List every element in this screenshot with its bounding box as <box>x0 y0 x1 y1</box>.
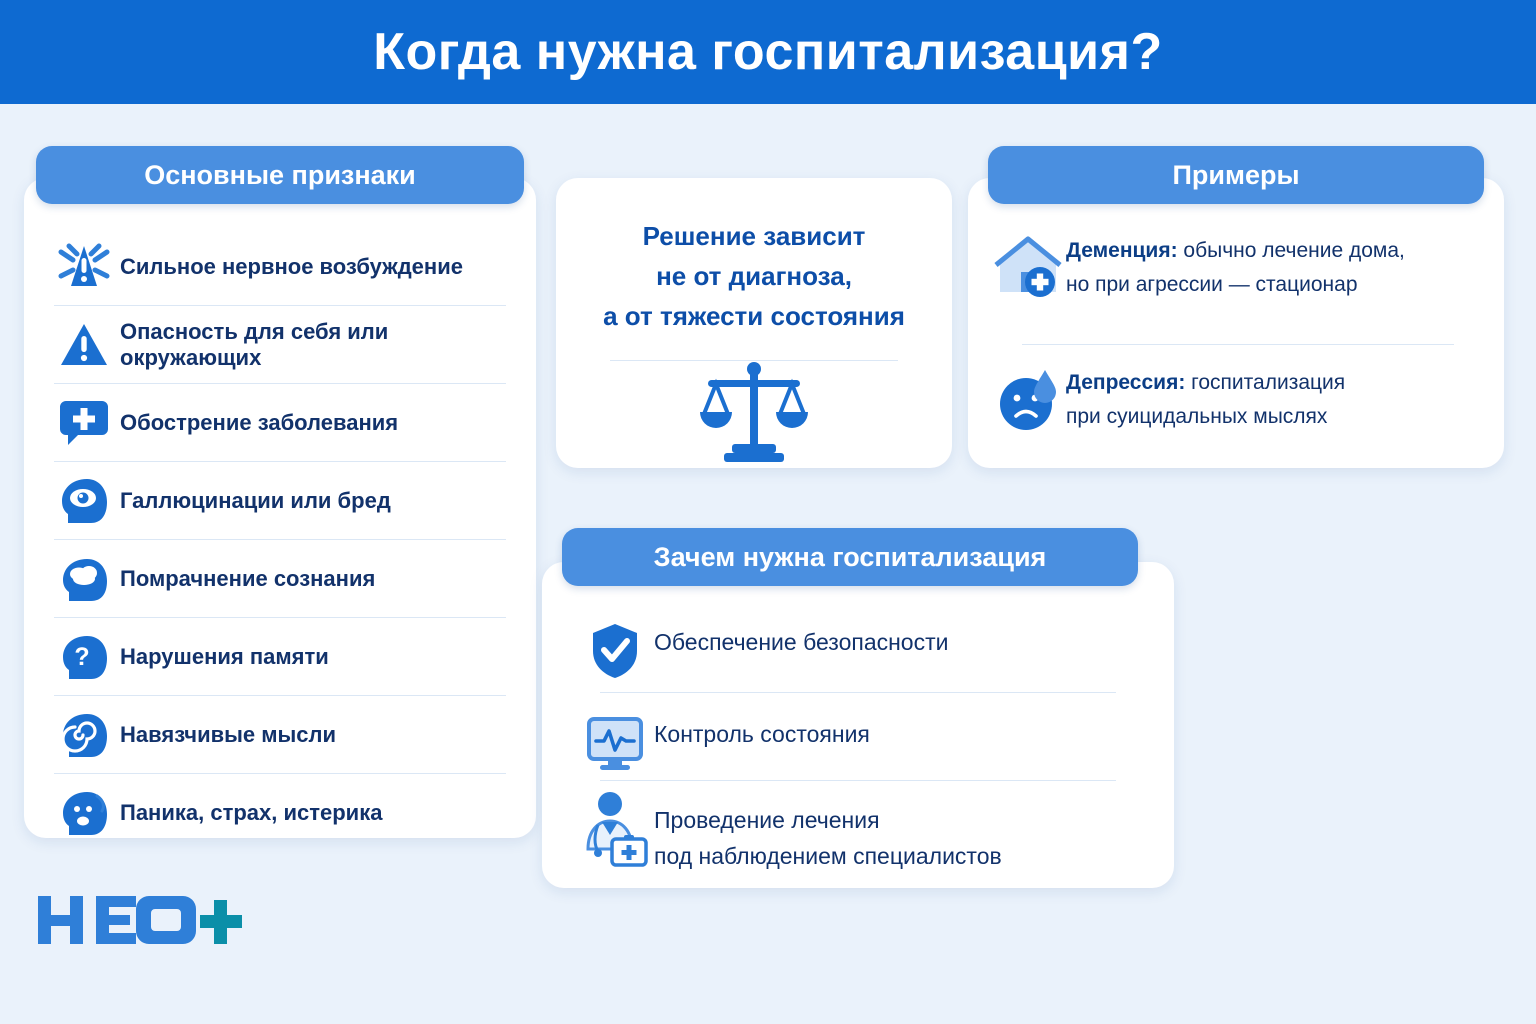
head-cloud-icon <box>54 550 114 608</box>
divider <box>1022 344 1454 345</box>
divider <box>600 692 1116 693</box>
list-item: Опасность для себя или окружающих <box>54 306 506 384</box>
sad-face-drop-icon <box>990 362 1066 438</box>
list-item: Галлюцинации или бред <box>54 462 506 540</box>
head-spiral-icon <box>54 706 114 764</box>
shield-check-icon <box>576 616 654 686</box>
list-item: Навязчивые мысли <box>54 696 506 774</box>
page-header: Когда нужна госпитализация? <box>0 0 1536 104</box>
decision-text: Решение зависит не от диагноза, а от тяж… <box>556 216 952 336</box>
example-rest-label: обычно лечение дома, <box>1178 239 1405 262</box>
list-item-label: Опасность для себя или окружающих <box>120 319 506 371</box>
why-card: Обеспечение безопасности Контроль состоя… <box>542 562 1174 888</box>
examples-card-title: Примеры <box>988 146 1484 204</box>
example-second-line: при суицидальных мыслях <box>1066 405 1327 428</box>
list-item-label: Навязчивые мысли <box>120 722 336 748</box>
head-question-icon: ? <box>54 628 114 686</box>
page-title: Когда нужна госпитализация? <box>373 22 1163 82</box>
decision-card: Решение зависит не от диагноза, а от тяж… <box>556 178 952 468</box>
signs-title-label: Основные признаки <box>144 160 416 191</box>
list-item: Помрачнение сознания <box>54 540 506 618</box>
list-item: Проведение лечения под наблюдением специ… <box>576 794 1002 874</box>
list-item-label: Деменция: обычно лечение дома, но при аг… <box>1066 230 1405 302</box>
list-item: Депрессия: госпитализация при суицидальн… <box>990 362 1490 438</box>
examples-title-label: Примеры <box>1172 160 1299 191</box>
why-line-2: под наблюдением специалистов <box>654 843 1002 869</box>
svg-text:?: ? <box>74 643 89 671</box>
balance-scales-icon <box>694 358 814 463</box>
signs-list: Сильное нервное возбуждение Опасность дл… <box>54 228 506 851</box>
warning-triangle-icon <box>54 316 114 374</box>
list-item: ? Нарушения памяти <box>54 618 506 696</box>
signs-card-title: Основные признаки <box>36 146 524 204</box>
doctor-icon <box>576 794 654 864</box>
head-panic-icon <box>54 784 114 842</box>
list-item-label: Галлюцинации или бред <box>120 488 391 514</box>
why-line-1: Проведение лечения <box>654 807 880 833</box>
brand-logo <box>36 890 266 954</box>
list-item-label: Паника, страх, истерика <box>120 800 382 826</box>
list-item: Обострение заболевания <box>54 384 506 462</box>
example-bold-label: Депрессия: <box>1066 371 1185 394</box>
example-bold-label: Деменция: <box>1066 239 1178 262</box>
example-rest-label: госпитализация <box>1185 371 1345 394</box>
decision-line-3: а от тяжести состояния <box>556 296 952 336</box>
list-item: Деменция: обычно лечение дома, но при аг… <box>990 230 1490 306</box>
list-item: Паника, страх, истерика <box>54 774 506 851</box>
monitor-pulse-icon <box>576 708 654 778</box>
list-item-label: Нарушения памяти <box>120 644 329 670</box>
list-item-label: Депрессия: госпитализация при суицидальн… <box>1066 362 1345 434</box>
signs-card: Сильное нервное возбуждение Опасность дл… <box>24 178 536 838</box>
alert-burst-icon <box>54 238 114 296</box>
list-item: Контроль состояния <box>576 708 870 778</box>
list-item-label: Обеспечение безопасности <box>654 616 949 660</box>
list-item-label: Проведение лечения под наблюдением специ… <box>654 794 1002 874</box>
divider <box>600 780 1116 781</box>
examples-card: Деменция: обычно лечение дома, но при аг… <box>968 178 1504 468</box>
decision-line-1: Решение зависит <box>556 216 952 256</box>
list-item-label: Контроль состояния <box>654 708 870 752</box>
list-item: Обеспечение безопасности <box>576 616 949 686</box>
list-item-label: Помрачнение сознания <box>120 566 375 592</box>
why-title-label: Зачем нужна госпитализация <box>654 542 1047 573</box>
decision-line-2: не от диагноза, <box>556 256 952 296</box>
list-item-label: Сильное нервное возбуждение <box>120 254 463 280</box>
list-item: Сильное нервное возбуждение <box>54 228 506 306</box>
house-medical-icon <box>990 230 1066 306</box>
why-card-title: Зачем нужна госпитализация <box>562 528 1138 586</box>
medical-cross-speech-icon <box>54 394 114 452</box>
example-second-line: но при агрессии — стационар <box>1066 273 1358 296</box>
head-eye-icon <box>54 472 114 530</box>
list-item-label: Обострение заболевания <box>120 410 398 436</box>
